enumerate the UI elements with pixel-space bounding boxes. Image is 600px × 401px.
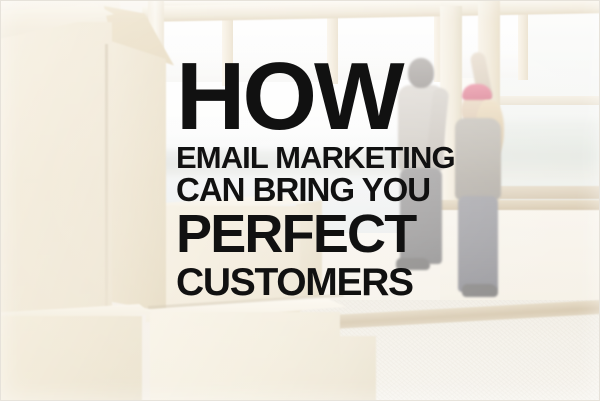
headline-line-2: EMAIL MARKETING (176, 143, 448, 173)
headline-line-3: CAN BRING YOU (176, 174, 448, 206)
box-tall-front (0, 22, 112, 322)
headline-line-5: CUSTOMERS (176, 264, 448, 301)
headline-line-4: PERFECT (176, 209, 448, 261)
box-lower-left-front (0, 316, 142, 401)
box-tall-seam (105, 44, 108, 312)
headline-line-1: HOW (176, 56, 448, 139)
box-tall-side (108, 40, 166, 312)
poster-image: HOW EMAIL MARKETING CAN BRING YOU PERFEC… (0, 0, 600, 401)
box-center-front (150, 312, 340, 401)
headline-block: HOW EMAIL MARKETING CAN BRING YOU PERFEC… (176, 56, 448, 301)
